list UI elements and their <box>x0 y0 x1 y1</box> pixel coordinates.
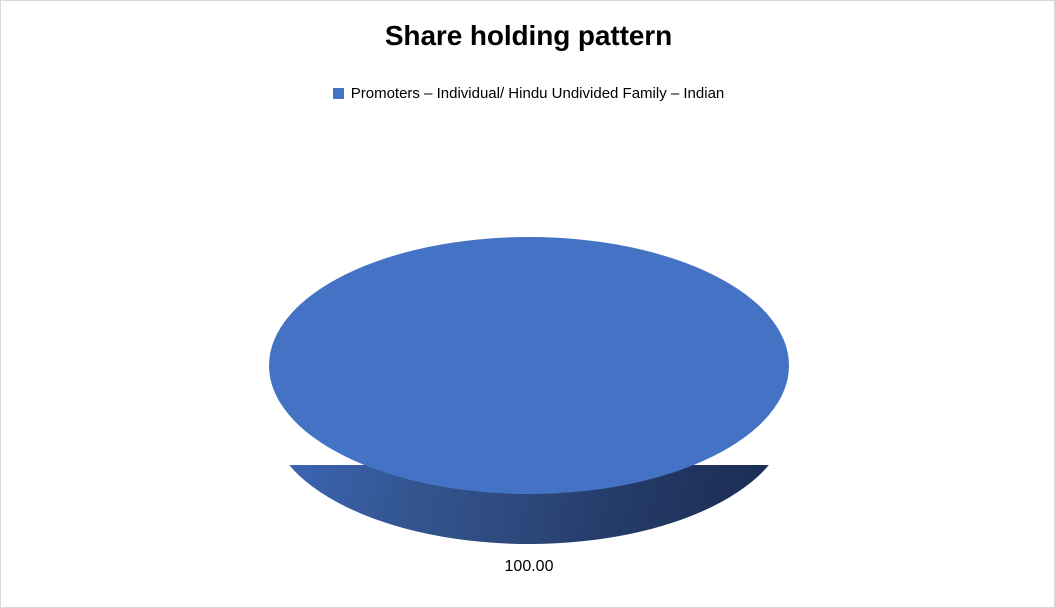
pie-slice-promoters[interactable] <box>269 237 789 494</box>
pie-chart-plot <box>269 237 789 544</box>
legend-item-label: Promoters – Individual/ Hindu Undivided … <box>351 86 725 101</box>
square-marker-icon <box>333 88 344 99</box>
pie-data-label: 100.00 <box>469 559 589 575</box>
chart-legend: Promoters – Individual/ Hindu Undivided … <box>1 86 1055 101</box>
legend-item[interactable]: Promoters – Individual/ Hindu Undivided … <box>333 86 725 101</box>
chart-container: Share holding pattern Promoters – Indivi… <box>0 0 1055 608</box>
chart-title: Share holding pattern <box>1 20 1055 52</box>
